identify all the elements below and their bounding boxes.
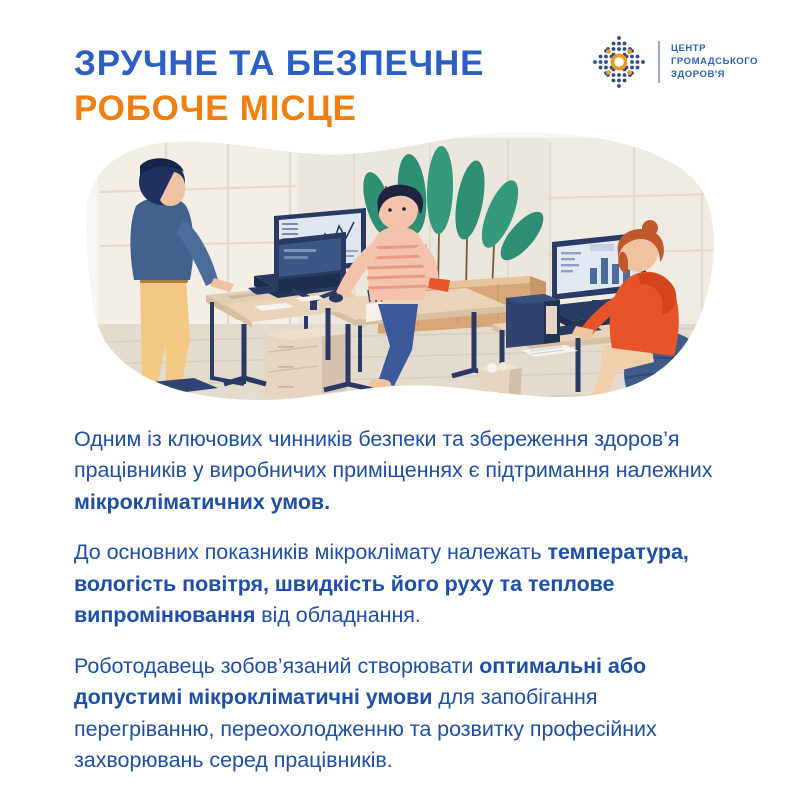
person-2-foot [369,379,391,389]
emphasis-run: мікрокліматичних умов. [74,490,330,514]
body-copy: Одним із ключових чинників безпеки та зб… [74,424,730,777]
logo-line-3: ЗДОРОВ'Я [671,69,758,81]
paragraph-2: До основних показників мікроклімату нале… [74,537,730,631]
infographic-poster: ЗРУЧНЕ ТА БЕЗПЕЧНЕ РОБОЧЕ МІСЦЕ [0,0,800,800]
dotted-diamond-emblem-icon [591,34,647,90]
person-3-shoe [582,399,606,409]
person-3-bun [642,220,658,236]
title-block: ЗРУЧНЕ ТА БЕЗПЕЧНЕ РОБОЧЕ МІСЦЕ [74,44,484,128]
paragraph-3: Роботодавець зобов’язаний створювати опт… [74,651,730,777]
logo-line-2: ГРОМАДСЬКОГО [671,56,758,68]
workplace-illustration [78,128,722,410]
title-line-primary: ЗРУЧНЕ ТА БЕЗПЕЧНЕ [74,44,484,83]
person-1-shoe-left [137,382,159,392]
logo-wordmark: ЦЕНТР ГРОМАДСЬКОГО ЗДОРОВ'Я [671,43,758,81]
paragraph-1: Одним із ключових чинників безпеки та зб… [74,424,730,518]
binder [506,294,560,348]
illustration-scene [98,138,722,410]
organization-logo: ЦЕНТР ГРОМАДСЬКОГО ЗДОРОВ'Я [591,34,758,90]
emphasis-run: оптимальні або допустимі мікрокліматичні… [74,654,646,709]
logo-divider [658,41,660,83]
mouse-2 [329,294,343,303]
workplace-illustration-svg [78,128,722,410]
logo-line-1: ЦЕНТР [671,43,758,55]
title-line-accent: РОБОЧЕ МІСЦЕ [74,89,484,128]
emphasis-run: температура, вологість повітря, швидкіст… [74,540,689,627]
waste-basket [478,362,522,410]
